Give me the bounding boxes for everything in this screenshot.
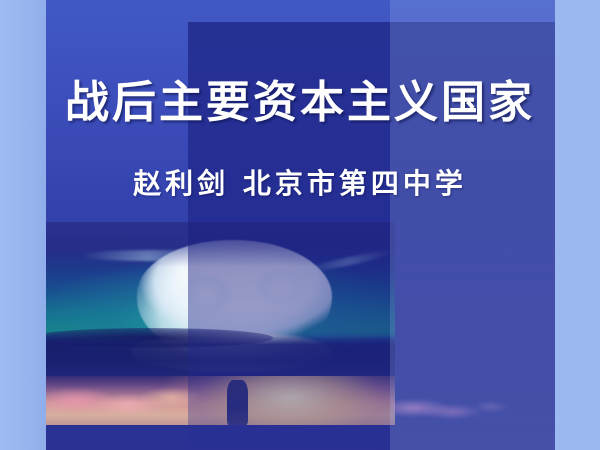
presentation-slide: 战后主要资本主义国家 赵利剑 北京市第四中学	[0, 0, 600, 450]
slide-subtitle: 赵利剑 北京市第四中学	[0, 162, 600, 202]
slide-title: 战后主要资本主义国家	[0, 66, 600, 130]
